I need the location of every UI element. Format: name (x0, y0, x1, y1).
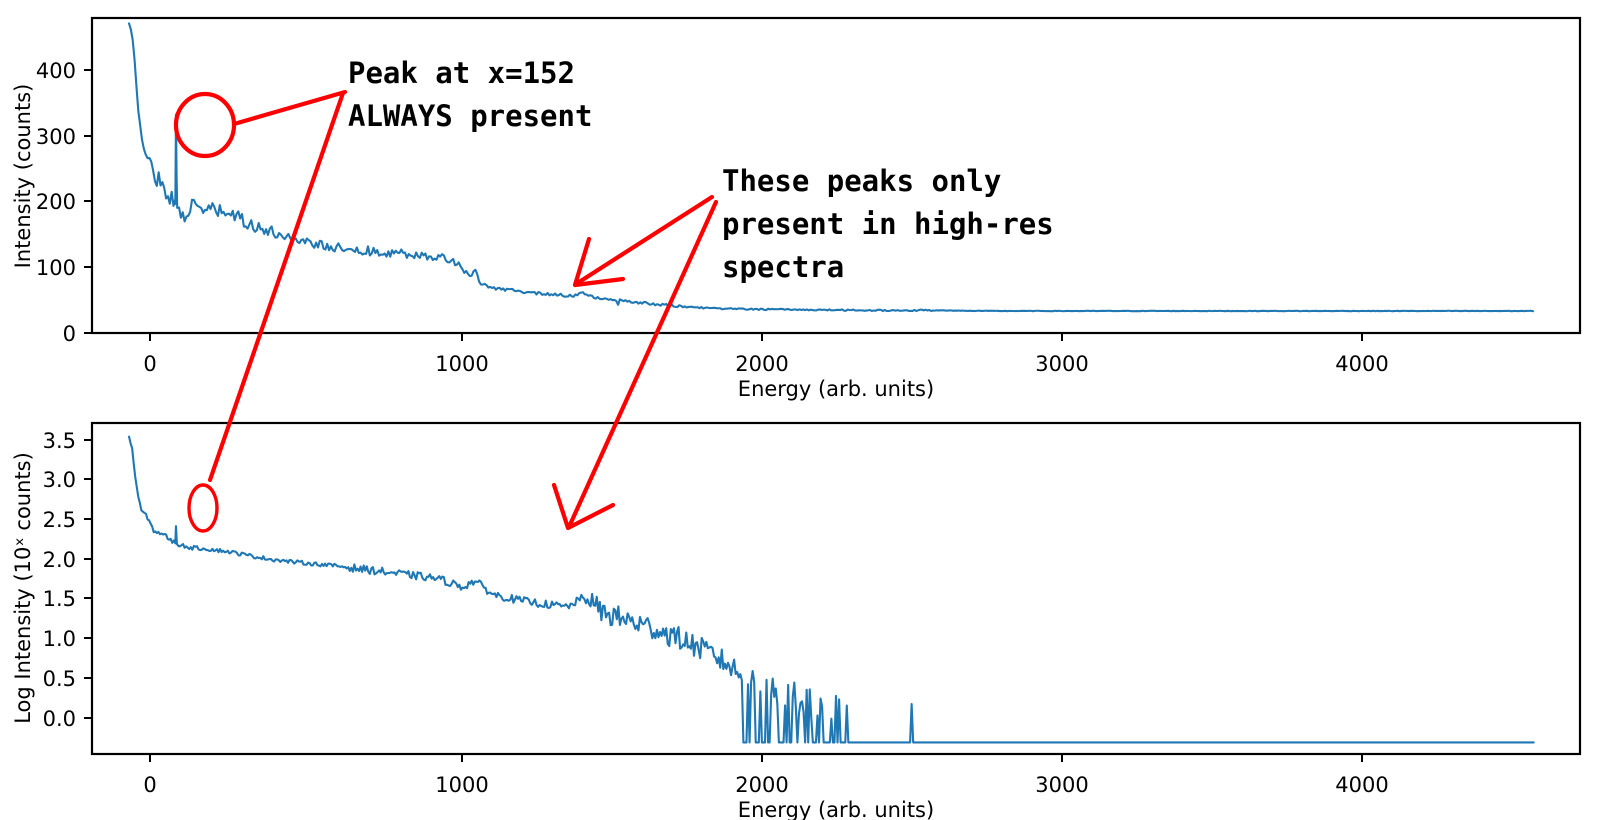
top-xtick-label-1000: 1000 (435, 352, 488, 376)
bottom-ytick-label-1-0: 1.0 (43, 627, 76, 651)
peak-152-circle-bottom (189, 485, 217, 531)
top-panel-y-ticks: 0 100 200 300 400 (36, 59, 92, 346)
bottom-xtick-label-3000: 3000 (1035, 773, 1088, 797)
bottom-panel-ylabel: Log Intensity (10ˣ counts) (11, 452, 35, 724)
high-res-arrow-top-shaft (576, 197, 712, 284)
peak-152-leader-top (234, 92, 345, 124)
spectrum-figure: 0 100 200 300 400 0 1000 2000 3000 (0, 0, 1604, 820)
top-xtick-label-0: 0 (143, 352, 156, 376)
figure-canvas: 0 100 200 300 400 0 1000 2000 3000 (0, 0, 1604, 820)
high-res-arrow-bottom-shaft (569, 202, 716, 527)
bottom-ytick-label-0-5: 0.5 (43, 667, 76, 691)
peak-152-label-line1: Peak at x=152 (348, 56, 575, 90)
top-xtick-label-3000: 3000 (1035, 352, 1088, 376)
top-ytick-label-200: 200 (36, 190, 76, 214)
top-panel-ylabel: Intensity (counts) (11, 84, 35, 269)
bottom-ytick-label-0-0: 0.0 (43, 707, 76, 731)
bottom-ytick-label-2-0: 2.0 (43, 548, 76, 572)
top-ytick-label-100: 100 (36, 256, 76, 280)
bottom-panel-y-ticks: 0.0 0.5 1.0 1.5 2.0 2.5 3.0 3.5 (43, 429, 92, 731)
high-res-label-line2: present in high-res (722, 207, 1054, 241)
top-panel-x-ticks: 0 1000 2000 3000 4000 (143, 333, 1388, 376)
top-xtick-label-4000: 4000 (1335, 352, 1388, 376)
top-xtick-label-2000: 2000 (735, 352, 788, 376)
bottom-ytick-label-3-0: 3.0 (43, 468, 76, 492)
bottom-xtick-label-2000: 2000 (735, 773, 788, 797)
peak-152-circle-top (176, 94, 234, 156)
bottom-ytick-label-3-5: 3.5 (43, 429, 76, 453)
high-res-label-line3: spectra (722, 250, 844, 284)
bottom-panel-x-ticks: 0 1000 2000 3000 4000 (143, 754, 1388, 797)
annotation-high-res-peaks: These peaks only present in high-res spe… (554, 164, 1054, 528)
peak-152-label-line2: ALWAYS present (348, 99, 592, 133)
bottom-ytick-label-1-5: 1.5 (43, 587, 76, 611)
high-res-label-line1: These peaks only (722, 164, 1001, 198)
top-ytick-label-300: 300 (36, 125, 76, 149)
bottom-ytick-label-2-5: 2.5 (43, 508, 76, 532)
bottom-xtick-label-0: 0 (143, 773, 156, 797)
bottom-panel-xlabel: Energy (arb. units) (738, 798, 934, 820)
annotation-peak-152: Peak at x=152 ALWAYS present (176, 56, 592, 531)
bottom-xtick-label-4000: 4000 (1335, 773, 1388, 797)
top-ytick-label-0: 0 (63, 322, 76, 346)
bottom-xtick-label-1000: 1000 (435, 773, 488, 797)
bottom-panel-data-line (129, 437, 1534, 743)
top-ytick-label-400: 400 (36, 59, 76, 83)
top-panel-xlabel: Energy (arb. units) (738, 377, 934, 401)
bottom-panel: 0.0 0.5 1.0 1.5 2.0 2.5 3.0 3.5 0 (11, 423, 1580, 820)
